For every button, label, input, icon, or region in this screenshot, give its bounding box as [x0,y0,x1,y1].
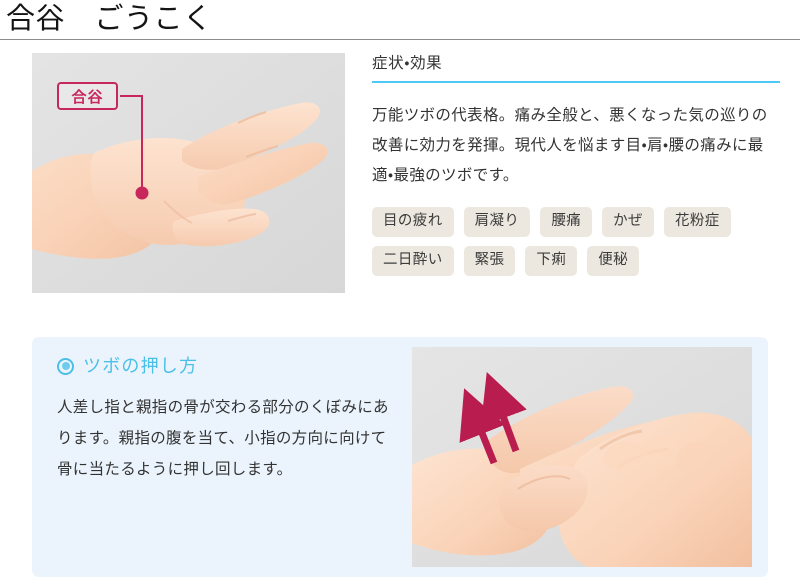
howto-heading-label: ツボの押し方 [83,355,198,377]
section-heading-underline [372,81,780,83]
symptom-tag[interactable]: 目の疲れ [372,207,454,237]
howto-panel: ツボの押し方 人差し指と親指の骨が交わる部分のくぼみにあります。親指の腹を当て、… [32,337,768,577]
overview-section: 合谷 症状・効果 万能ツボの代表格。痛み全般と、悪くなった気の巡りの改善に効力を… [0,40,800,330]
howto-figure [412,347,752,567]
symptom-tag[interactable]: 緊張 [464,246,516,276]
circle-target-icon [57,358,74,375]
page-title: 合谷 ごうこく [6,0,213,39]
symptom-tag[interactable]: かぜ [602,207,654,237]
howto-heading: ツボの押し方 [57,355,198,377]
symptom-tag[interactable]: 下痢 [525,246,577,276]
symptom-tag[interactable]: 二日酔い [372,246,454,276]
pressing-illustration [412,347,752,567]
symptom-tag-list: 目の疲れ 肩凝り 腰痛 かぜ 花粉症 二日酔い 緊張 下痢 便秘 [372,207,782,276]
acupoint-marker [136,187,149,200]
howto-instructions: 人差し指と親指の骨が交わる部分のくぼみにあります。親指の腹を当て、小指の方向に向… [57,392,402,485]
acupoint-callout-box: 合谷 [57,82,118,110]
section-heading-symptoms: 症状・効果 [372,54,780,74]
symptom-effect-column: 症状・効果 万能ツボの代表格。痛み全般と、悪くなった気の巡りの改善に効力を発揮。… [372,54,780,276]
acupoint-callout-label: 合谷 [59,84,116,108]
symptom-tag[interactable]: 花粉症 [664,207,731,237]
symptom-description: 万能ツボの代表格。痛み全般と、悪くなった気の巡りの改善に効力を発揮。現代人を悩ま… [372,101,776,191]
symptom-tag[interactable]: 便秘 [587,246,639,276]
symptom-tag[interactable]: 腰痛 [540,207,592,237]
symptom-tag[interactable]: 肩凝り [464,207,531,237]
acupoint-location-figure: 合谷 [32,53,345,293]
page-header: 合谷 ごうこく [0,0,800,40]
